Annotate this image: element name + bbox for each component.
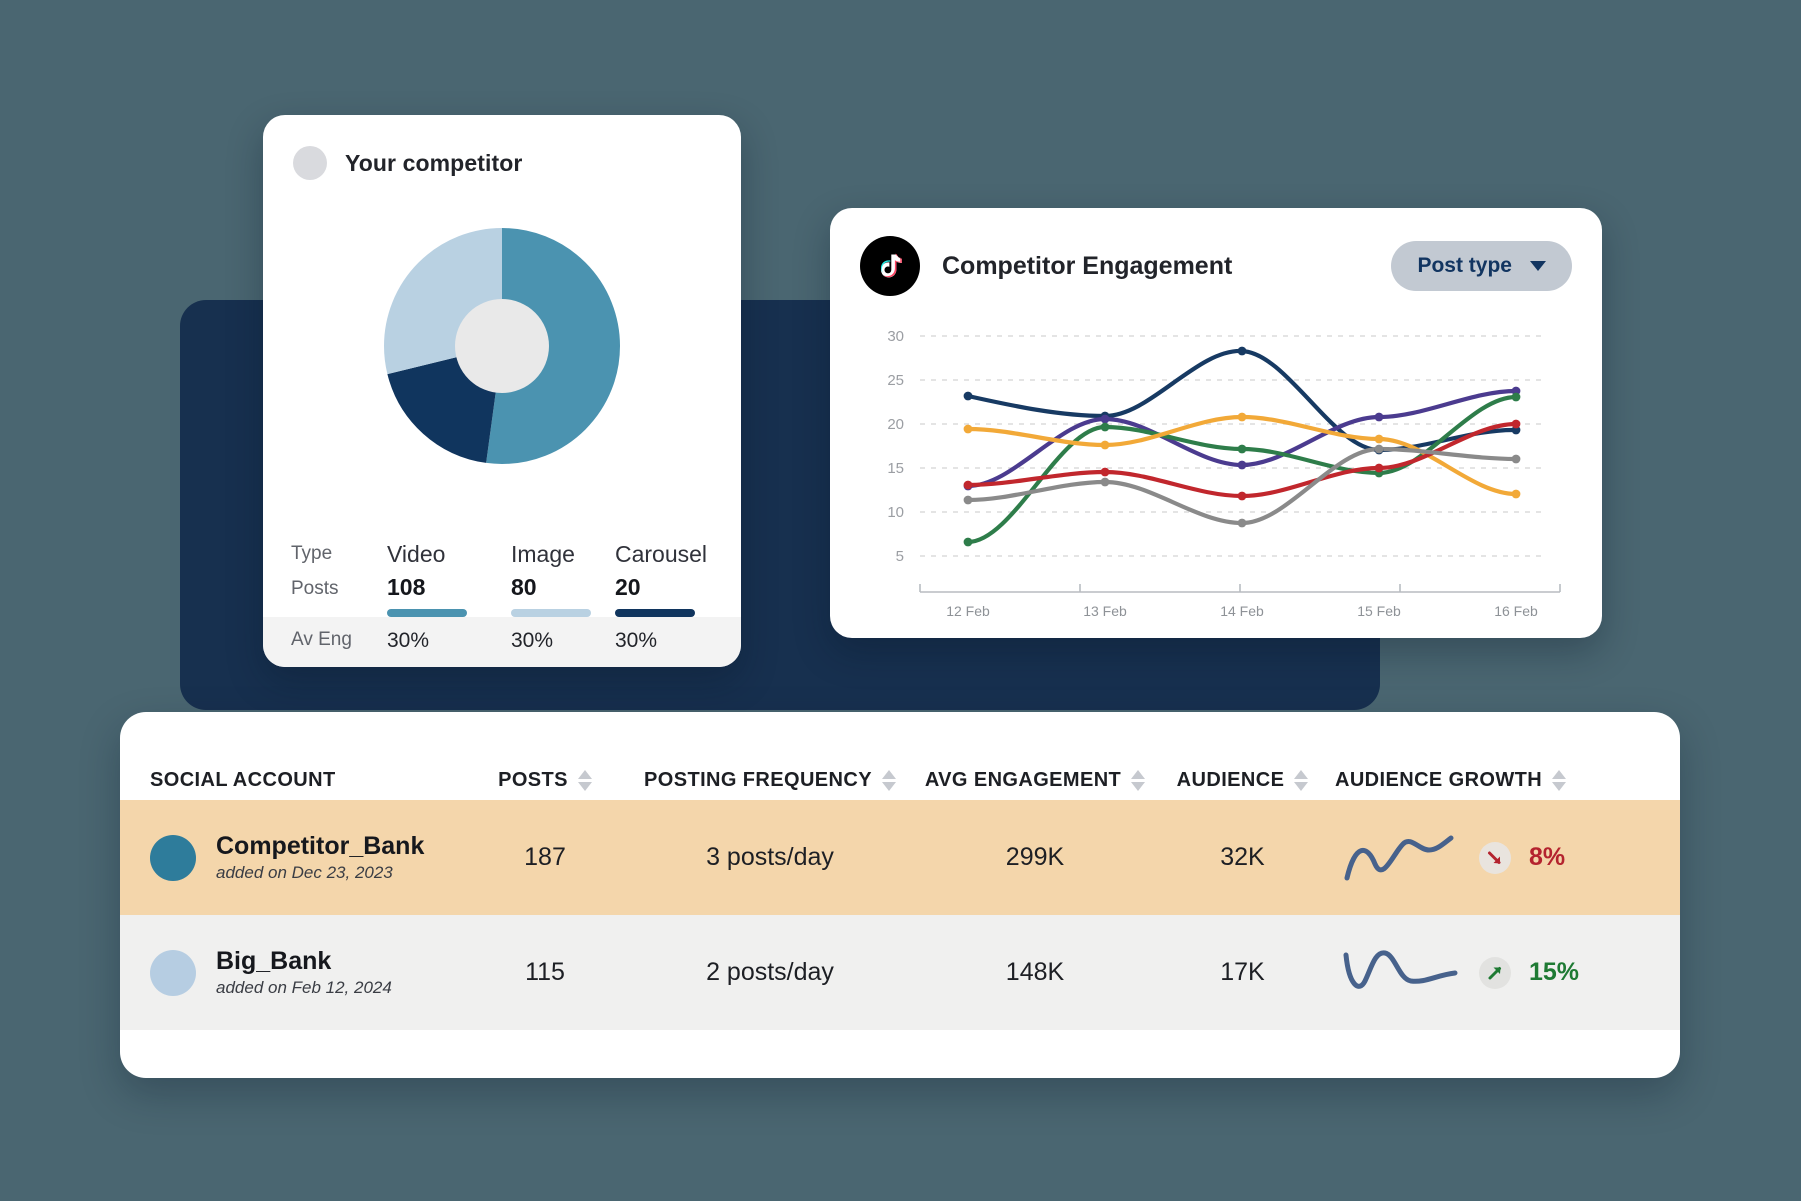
- audience-cell: 17K: [1150, 958, 1335, 987]
- legend-posts-row: Posts 108 80 20: [263, 572, 741, 617]
- svg-text:13 Feb: 13 Feb: [1083, 603, 1127, 619]
- competitor-engagement-card: Competitor Engagement Post type: [830, 208, 1602, 638]
- account-cell[interactable]: Big_Bank added on Feb 12, 2024: [150, 947, 470, 999]
- legend-bar-video: [387, 609, 467, 617]
- column-label-posting-frequency: POSTING FREQUENCY: [644, 769, 872, 792]
- legend-type-video: Video: [387, 537, 511, 572]
- column-header-avg-engagement[interactable]: AVG ENGAGEMENT: [920, 769, 1150, 792]
- audience-cell: 32K: [1150, 843, 1335, 872]
- table-row[interactable]: Competitor_Bank added on Dec 23, 2023 18…: [120, 800, 1680, 915]
- sort-arrows-icon[interactable]: [1552, 770, 1566, 791]
- legend-type-carousel: Carousel: [615, 537, 741, 572]
- growth-cell: 8%: [1335, 830, 1680, 886]
- dashboard-composite: Your competitor Type Video Image Carouse…: [0, 0, 1801, 1201]
- engagement-cell: 299K: [920, 843, 1150, 872]
- legend-row-label-type: Type: [291, 537, 387, 572]
- sort-arrows-icon[interactable]: [1131, 770, 1145, 791]
- avatar: [150, 835, 196, 881]
- svg-text:5: 5: [896, 548, 904, 565]
- column-header-posts[interactable]: POSTS: [470, 769, 620, 792]
- svg-text:14 Feb: 14 Feb: [1220, 603, 1264, 619]
- svg-text:12 Feb: 12 Feb: [946, 603, 990, 619]
- sort-arrows-icon[interactable]: [578, 770, 592, 791]
- competitors-table-card: SOCIAL ACCOUNT POSTS POSTING FREQUENCY A…: [120, 712, 1680, 1078]
- legend-posts-image-cell: 80: [511, 572, 615, 617]
- posts-cell: 187: [470, 843, 620, 872]
- svg-text:10: 10: [887, 504, 904, 521]
- column-label-posts: POSTS: [498, 769, 568, 792]
- donut-chart: [263, 196, 741, 496]
- legend-aveng-video: 30%: [387, 617, 511, 667]
- legend-posts-image: 80: [511, 572, 615, 601]
- post-type-dropdown[interactable]: Post type: [1391, 241, 1572, 291]
- legend-aveng-image: 30%: [511, 617, 615, 667]
- table-row[interactable]: Big_Bank added on Feb 12, 2024 115 2 pos…: [120, 915, 1680, 1030]
- legend-posts-carousel-cell: 20: [615, 572, 741, 617]
- series-line-orange: [968, 417, 1516, 494]
- growth-percent: 15%: [1529, 958, 1579, 987]
- account-info: Big_Bank added on Feb 12, 2024: [216, 947, 392, 999]
- column-label-avg-engagement: AVG ENGAGEMENT: [925, 769, 1121, 792]
- legend-posts-video-cell: 108: [387, 572, 511, 617]
- donut-legend-table: Type Video Image Carousel Posts 108 80 2…: [263, 537, 741, 667]
- growth-percent: 8%: [1529, 843, 1565, 872]
- frequency-cell: 3 posts/day: [620, 843, 920, 872]
- avatar: [150, 950, 196, 996]
- account-cell[interactable]: Competitor_Bank added on Dec 23, 2023: [150, 832, 470, 884]
- chart-title: Competitor Engagement: [942, 252, 1232, 281]
- table-header-row: SOCIAL ACCOUNT POSTS POSTING FREQUENCY A…: [120, 712, 1680, 800]
- chevron-down-icon: [1530, 261, 1546, 271]
- legend-row-label-posts: Posts: [291, 572, 387, 617]
- engagement-line-plot: 30 25 20 15 10 5 12 Feb: [830, 314, 1602, 639]
- engagement-cell: 148K: [920, 958, 1150, 987]
- column-header-posting-frequency[interactable]: POSTING FREQUENCY: [620, 769, 920, 792]
- legend-posts-carousel: 20: [615, 572, 741, 601]
- account-name: Competitor_Bank: [216, 832, 424, 861]
- svg-text:15 Feb: 15 Feb: [1357, 603, 1401, 619]
- column-label-social-account: SOCIAL ACCOUNT: [150, 769, 336, 792]
- svg-text:30: 30: [887, 328, 904, 345]
- column-header-social-account: SOCIAL ACCOUNT: [150, 769, 470, 792]
- legend-posts-video: 108: [387, 572, 511, 601]
- column-label-audience-growth: AUDIENCE GROWTH: [1335, 769, 1542, 792]
- account-added-date: added on Feb 12, 2024: [216, 978, 392, 998]
- sparkline-chart: [1341, 830, 1461, 886]
- arrow-up-right-icon: [1479, 957, 1511, 989]
- column-header-audience[interactable]: AUDIENCE: [1150, 769, 1335, 792]
- svg-text:20: 20: [887, 416, 904, 433]
- column-header-audience-growth[interactable]: AUDIENCE GROWTH: [1335, 769, 1680, 792]
- legend-type-row: Type Video Image Carousel: [263, 537, 741, 572]
- legend-aveng-row: Av Eng 30% 30% 30%: [263, 617, 741, 667]
- competitor-donut-card: Your competitor Type Video Image Carouse…: [263, 115, 741, 667]
- svg-text:25: 25: [887, 372, 904, 389]
- donut-card-header: Your competitor: [263, 115, 741, 180]
- sparkline-chart: [1341, 945, 1461, 1001]
- circle-avatar-placeholder-icon: [293, 146, 327, 180]
- tiktok-logo-icon: [860, 236, 920, 296]
- line-chart-svg: 30 25 20 15 10 5 12 Feb: [830, 314, 1602, 634]
- frequency-cell: 2 posts/day: [620, 958, 920, 987]
- donut-svg: [352, 196, 652, 496]
- legend-bar-carousel: [615, 609, 695, 617]
- sort-arrows-icon[interactable]: [882, 770, 896, 791]
- chart-card-header: Competitor Engagement Post type: [830, 208, 1602, 296]
- posts-cell: 115: [470, 958, 620, 987]
- svg-text:16 Feb: 16 Feb: [1494, 603, 1538, 619]
- post-type-label: Post type: [1417, 254, 1512, 278]
- legend-row-label-aveng: Av Eng: [291, 617, 387, 667]
- svg-text:15: 15: [887, 460, 904, 477]
- account-info: Competitor_Bank added on Dec 23, 2023: [216, 832, 424, 884]
- legend-bar-image: [511, 609, 591, 617]
- legend-type-image: Image: [511, 537, 615, 572]
- legend-aveng-carousel: 30%: [615, 617, 741, 667]
- account-added-date: added on Dec 23, 2023: [216, 863, 424, 883]
- account-name: Big_Bank: [216, 947, 392, 976]
- arrow-down-right-icon: [1479, 842, 1511, 874]
- donut-card-title: Your competitor: [345, 150, 522, 177]
- growth-cell: 15%: [1335, 945, 1680, 1001]
- sort-arrows-icon[interactable]: [1294, 770, 1308, 791]
- column-label-audience: AUDIENCE: [1177, 769, 1285, 792]
- series-line-navy: [968, 351, 1516, 450]
